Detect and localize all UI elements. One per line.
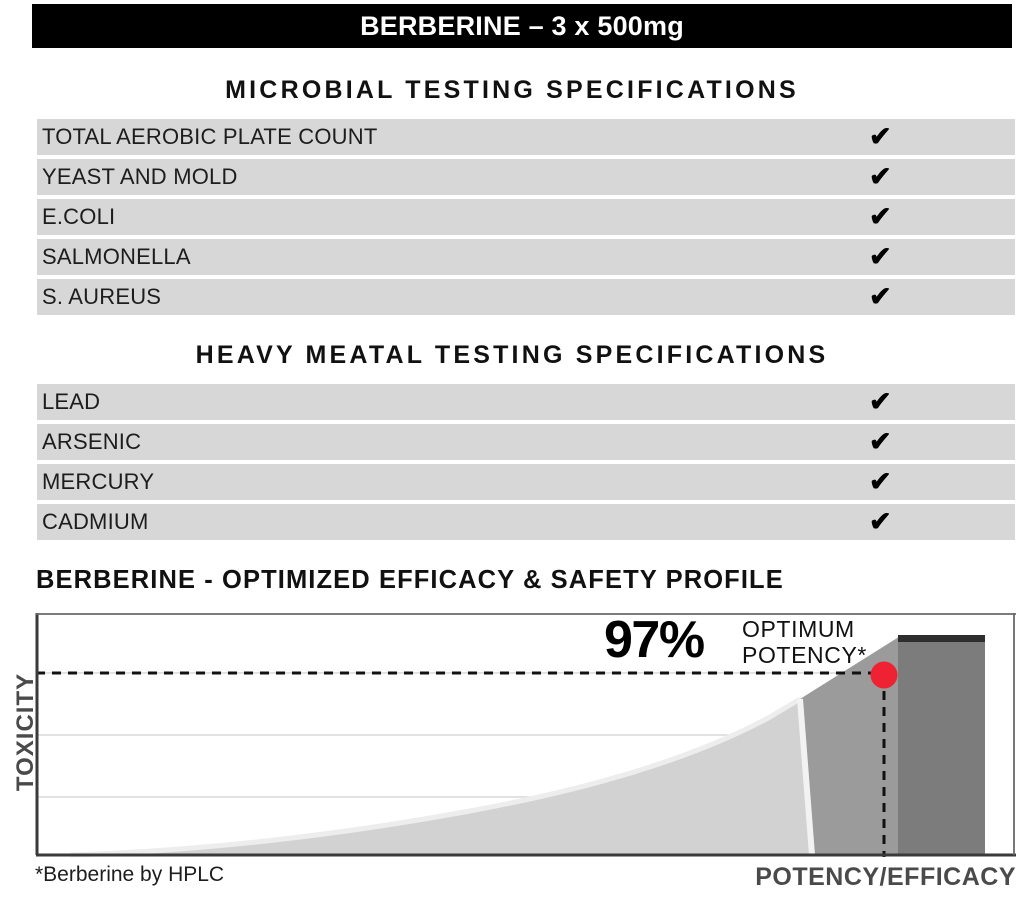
- spec-label: TOTAL AEROBIC PLATE COUNT: [37, 124, 377, 150]
- chart-plot-area: [0, 605, 1024, 865]
- table-row: SALMONELLA ✔: [37, 239, 1015, 275]
- spec-label: LEAD: [37, 389, 100, 415]
- spec-label: CADMIUM: [37, 509, 149, 535]
- high-potency-block-cap: [898, 635, 985, 642]
- product-title: BERBERINE – 3 x 500mg: [360, 11, 684, 42]
- microbial-section-heading: MICROBIAL TESTING SPECIFICATIONS: [0, 76, 1024, 105]
- efficacy-safety-chart: TOXICITY POTENCY/EFFICACY *Berberine by …: [0, 605, 1024, 902]
- microbial-spec-table: TOTAL AEROBIC PLATE COUNT ✔ YEAST AND MO…: [37, 119, 1015, 319]
- table-row: LEAD ✔: [37, 384, 1015, 420]
- table-row: TOTAL AEROBIC PLATE COUNT ✔: [37, 119, 1015, 155]
- spec-label: ARSENIC: [37, 429, 141, 455]
- chart-footnote: *Berberine by HPLC: [35, 863, 224, 887]
- spec-label: YEAST AND MOLD: [37, 164, 238, 190]
- x-axis-label: POTENCY/EFFICACY: [755, 863, 1016, 892]
- check-icon: ✔: [869, 509, 892, 536]
- spec-label: S. AUREUS: [37, 284, 161, 310]
- spec-label: E.COLI: [37, 204, 115, 230]
- table-row: YEAST AND MOLD ✔: [37, 159, 1015, 195]
- table-row: CADMIUM ✔: [37, 504, 1015, 540]
- check-icon: ✔: [869, 284, 892, 311]
- heavy-metal-section-heading: HEAVY MEATAL TESTING SPECIFICATIONS: [0, 341, 1024, 370]
- check-icon: ✔: [869, 244, 892, 271]
- heavy-metal-spec-table: LEAD ✔ ARSENIC ✔ MERCURY ✔ CADMIUM ✔: [37, 384, 1015, 544]
- product-title-banner: BERBERINE – 3 x 500mg: [32, 4, 1012, 48]
- check-icon: ✔: [869, 164, 892, 191]
- check-icon: ✔: [869, 124, 892, 151]
- spec-label: SALMONELLA: [37, 244, 191, 270]
- chart-title: BERBERINE - OPTIMIZED EFFICACY & SAFETY …: [36, 566, 1016, 595]
- high-potency-block: [898, 639, 985, 855]
- check-icon: ✔: [869, 389, 892, 416]
- spec-label: MERCURY: [37, 469, 154, 495]
- table-row: ARSENIC ✔: [37, 424, 1015, 460]
- check-icon: ✔: [869, 469, 892, 496]
- check-icon: ✔: [869, 204, 892, 231]
- table-row: MERCURY ✔: [37, 464, 1015, 500]
- check-icon: ✔: [869, 429, 892, 456]
- table-row: E.COLI ✔: [37, 199, 1015, 235]
- optimum-potency-marker: [871, 662, 898, 689]
- table-row: S. AUREUS ✔: [37, 279, 1015, 315]
